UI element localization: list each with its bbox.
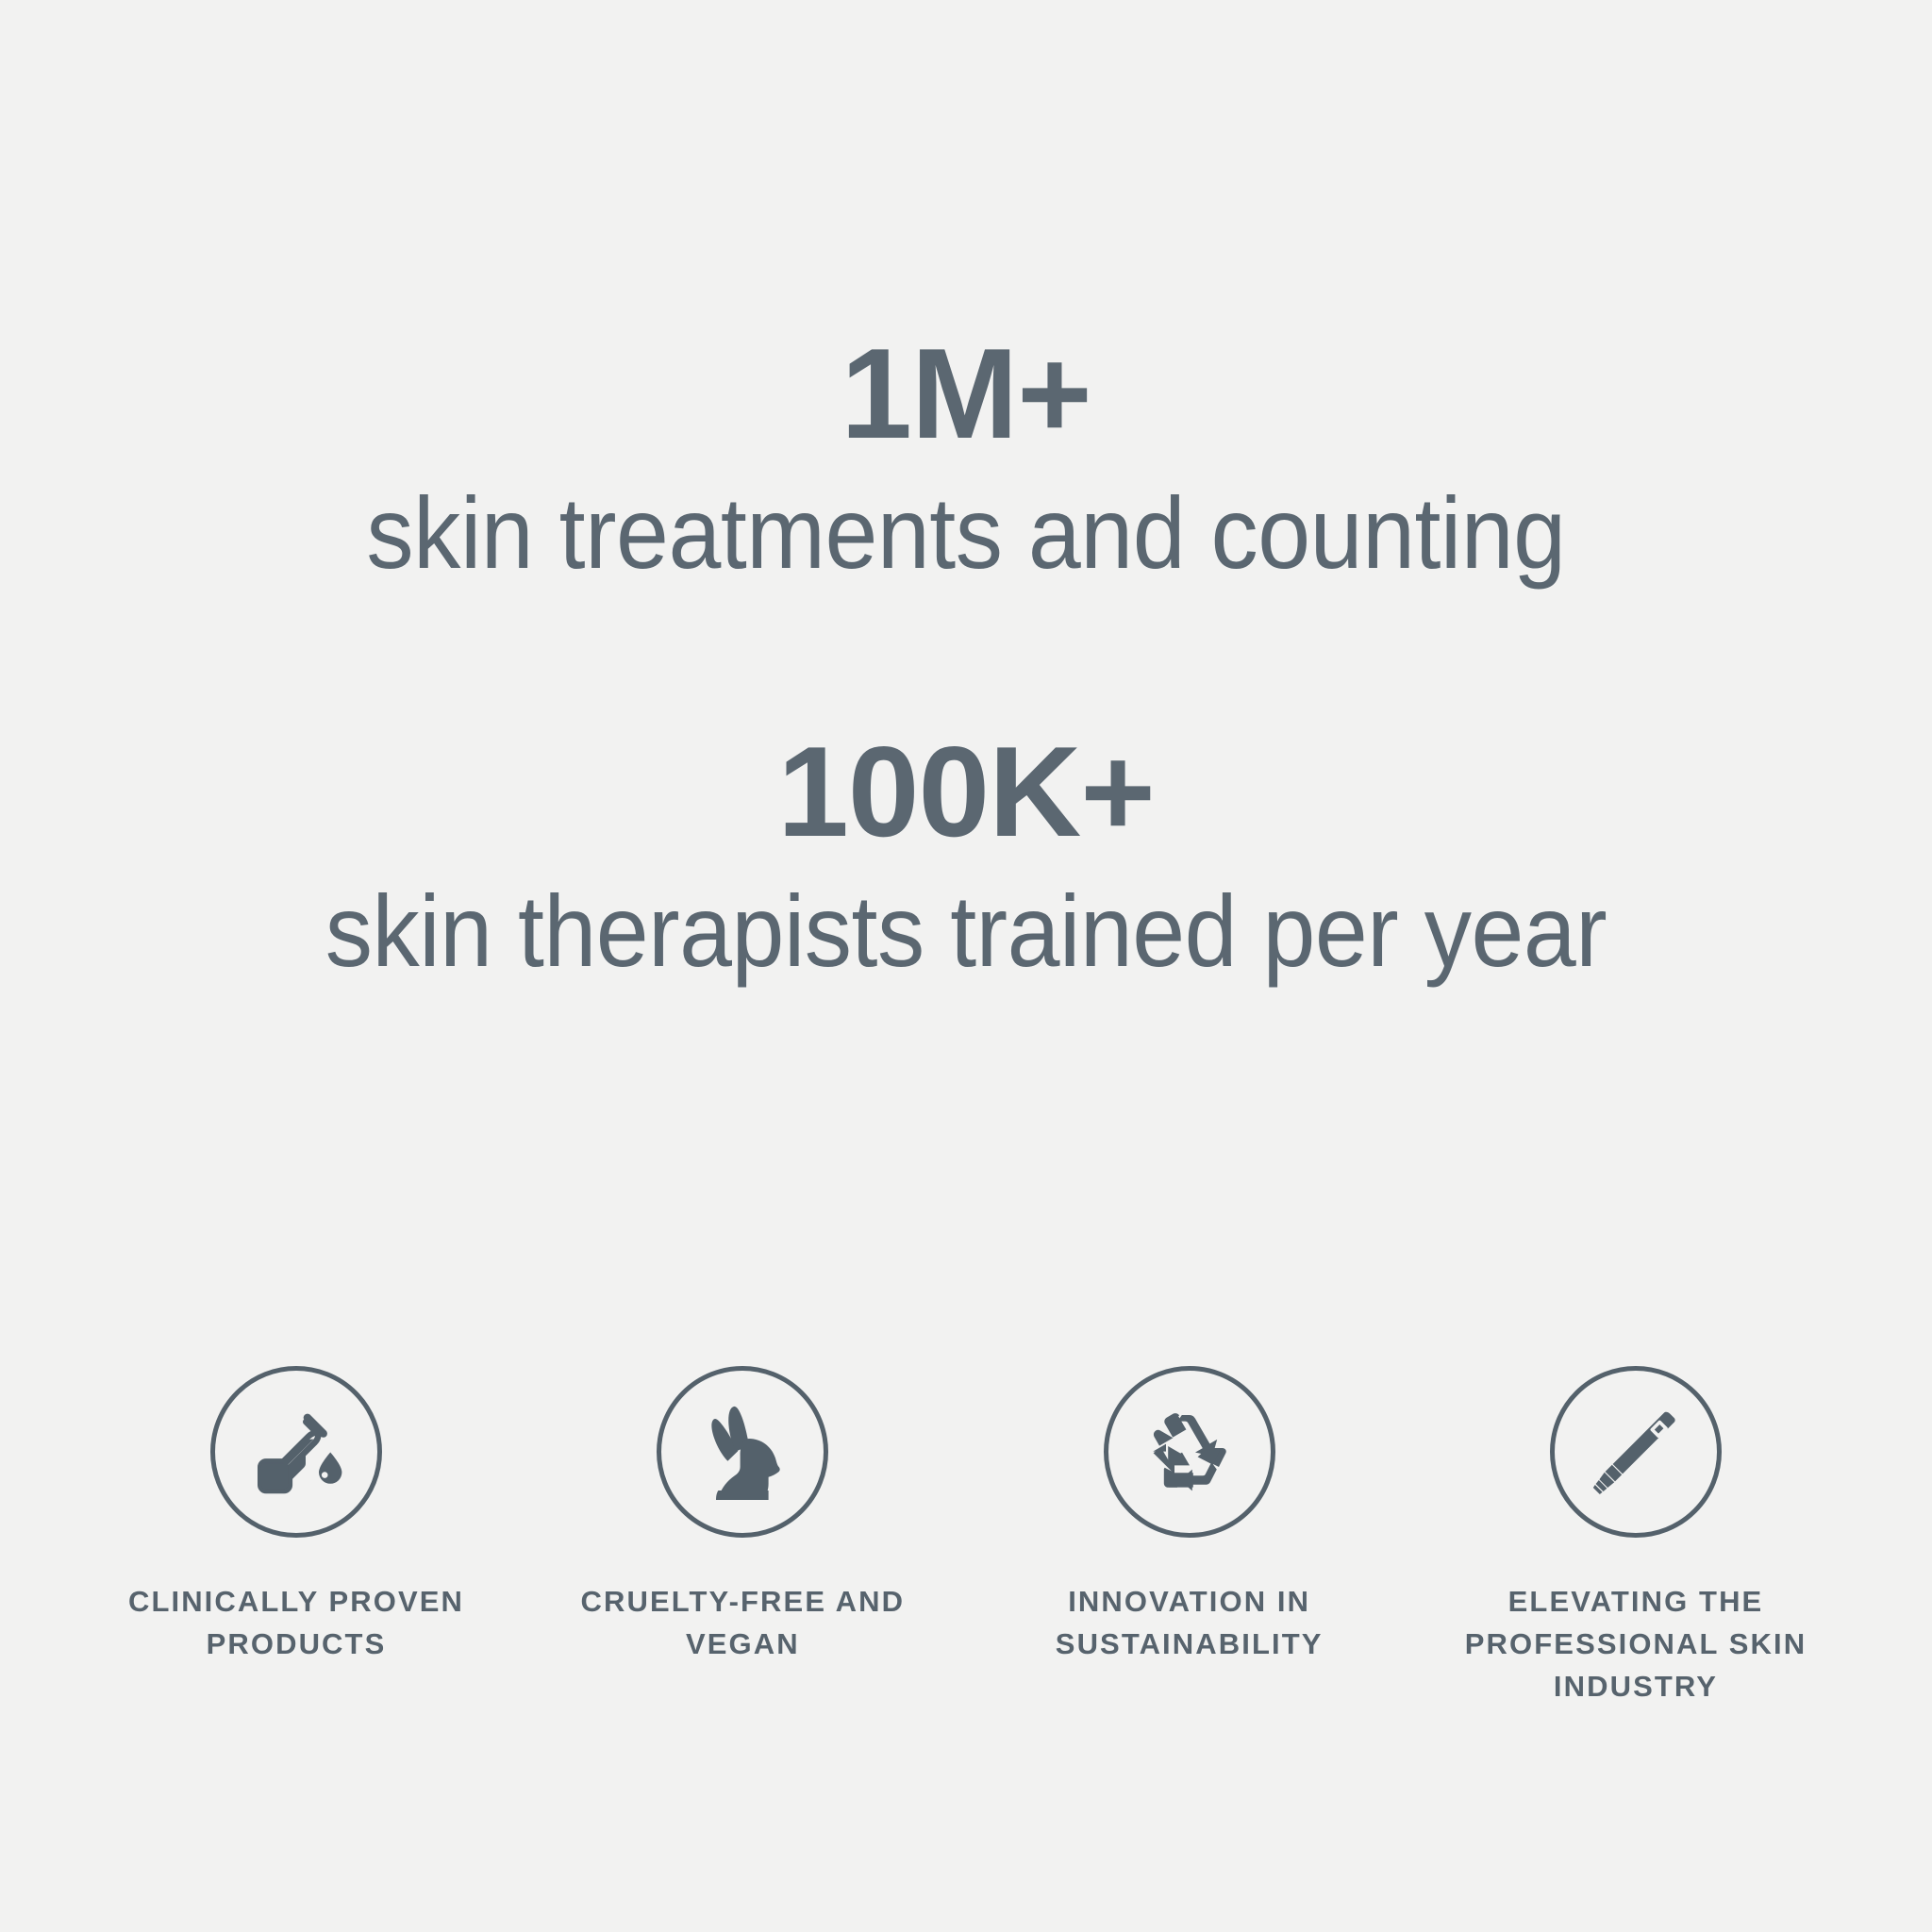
badge-elevating-industry: ELEVATING THE PROFESSIONAL SKIN INDUSTRY — [1438, 1366, 1834, 1708]
stat-value-therapists: 100K+ — [0, 726, 1932, 858]
badge-caption: INNOVATION IN SUSTAINABILITY — [1001, 1581, 1378, 1666]
badge-row: CLINICALLY PROVEN PRODUCTS — [98, 1366, 1834, 1708]
badge-sustainability: INNOVATION IN SUSTAINABILITY — [991, 1366, 1388, 1666]
rabbit-icon — [685, 1394, 800, 1509]
badge-circle — [210, 1366, 382, 1538]
recycle-icon — [1137, 1399, 1242, 1505]
stat-label-treatments: skin treatments and counting — [68, 473, 1865, 592]
stat-group-therapists: 100K+ skin therapists trained per year — [0, 726, 1932, 991]
stat-group-treatments: 1M+ skin treatments and counting — [0, 328, 1932, 592]
badge-circle — [657, 1366, 828, 1538]
flask-droplet-icon — [240, 1395, 353, 1508]
badge-circle — [1104, 1366, 1275, 1538]
dermal-pen-icon — [1580, 1396, 1691, 1507]
badge-cruelty-free: CRUELTY-FREE AND VEGAN — [544, 1366, 941, 1666]
stat-value-treatments: 1M+ — [0, 328, 1932, 459]
badge-clinically-proven: CLINICALLY PROVEN PRODUCTS — [98, 1366, 494, 1666]
badge-caption: CRUELTY-FREE AND VEGAN — [554, 1581, 931, 1666]
badge-caption: ELEVATING THE PROFESSIONAL SKIN INDUSTRY — [1447, 1581, 1824, 1708]
brand-stats-panel: 1M+ skin treatments and counting 100K+ s… — [0, 0, 1932, 1932]
stat-label-therapists: skin therapists trained per year — [68, 871, 1865, 991]
statistics-section: 1M+ skin treatments and counting 100K+ s… — [0, 328, 1932, 991]
badge-caption: CLINICALLY PROVEN PRODUCTS — [108, 1581, 485, 1666]
badge-circle — [1550, 1366, 1722, 1538]
